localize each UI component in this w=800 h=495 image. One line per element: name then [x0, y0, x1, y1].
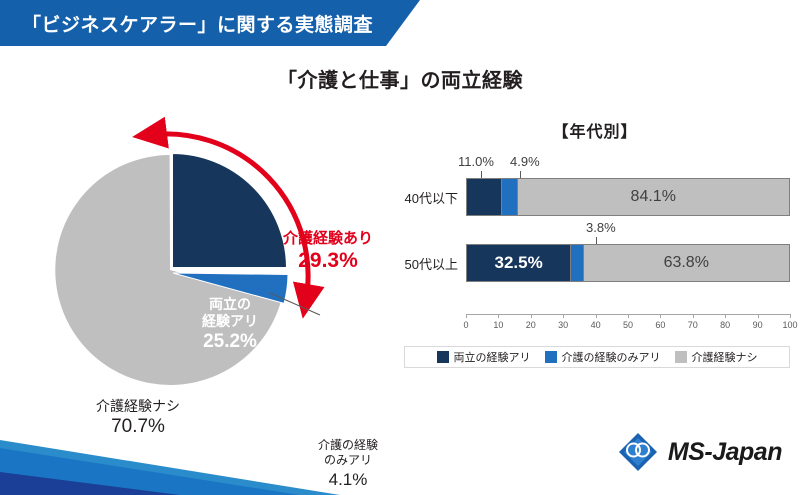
legend-item-no-care: 介護経験ナシ: [675, 349, 758, 365]
bar-row-track: 11.0% 4.9% 84.1%: [466, 178, 790, 216]
axis-tick: [790, 314, 791, 318]
bar-row: 40代以下 11.0% 4.9% 84.1%: [400, 178, 790, 216]
bar-row-category: 40代以下: [400, 178, 458, 216]
pie-annotation-text: 介護経験あり: [283, 230, 373, 247]
bar-chart-heading: 【年代別】: [400, 118, 790, 142]
bar-chart-legend: 両立の経験アリ 介護の経験のみアリ 介護経験ナシ: [404, 346, 790, 368]
bar-row: 50代以上 32.5% 3.8% 63.8%: [400, 244, 790, 282]
legend-label: 介護の経験のみアリ: [562, 349, 661, 365]
axis-tick: [466, 314, 467, 318]
bar-chart-plot: 11.0% 4.9% 3.8% 40代以下 11.0% 4.9% 84.1% 5…: [400, 154, 790, 354]
axis-label: 20: [526, 320, 536, 330]
bar-segment-no-care: 84.1%: [518, 178, 790, 216]
axis-label: 70: [688, 320, 698, 330]
axis-label: 10: [493, 320, 503, 330]
bar-row-track: 32.5% 3.8% 63.8%: [466, 244, 790, 282]
axis-tick: [628, 314, 629, 318]
legend-swatch-icon: [545, 351, 557, 363]
axis-tick: [531, 314, 532, 318]
bar-segment-both: 32.5%: [466, 244, 571, 282]
bar-chart-axis: 0 10 20 30 40 50 60 70 80 90 100: [466, 314, 790, 336]
pie-value-both: 25.2%: [170, 331, 290, 353]
brand-logo: MS-Japan: [617, 431, 782, 473]
axis-tick: [758, 314, 759, 318]
callout-row1-navy: 11.0%: [458, 154, 494, 169]
axis-label: 90: [753, 320, 763, 330]
bar-segment-care-only: 3.8%: [571, 244, 583, 282]
header-banner: 「ビジネスケアラー」に関する実態調査: [0, 0, 420, 46]
axis-tick: [498, 314, 499, 318]
bar-segment-care-only: 4.9%: [502, 178, 518, 216]
axis-tick: [725, 314, 726, 318]
axis-tick: [563, 314, 564, 318]
legend-label: 両立の経験アリ: [454, 349, 531, 365]
legend-item-care-only: 介護の経験のみアリ: [545, 349, 661, 365]
axis-tick: [660, 314, 661, 318]
axis-label: 100: [782, 320, 797, 330]
axis-label: 0: [463, 320, 468, 330]
legend-item-both: 両立の経験アリ: [437, 349, 531, 365]
axis-label: 50: [623, 320, 633, 330]
axis-label: 30: [558, 320, 568, 330]
legend-label: 介護経験ナシ: [692, 349, 758, 365]
legend-swatch-icon: [437, 351, 449, 363]
axis-label: 40: [591, 320, 601, 330]
bar-segment-no-care-value: 84.1%: [631, 188, 676, 206]
bar-segment-no-care-value: 63.8%: [664, 254, 709, 272]
bar-chart: 【年代別】 11.0% 4.9% 3.8% 40代以下 11.0% 4.9% 8…: [400, 118, 790, 383]
brand-logo-text: MS-Japan: [668, 438, 782, 467]
axis-tick: [693, 314, 694, 318]
footer-decoration: [0, 400, 340, 495]
legend-swatch-icon: [675, 351, 687, 363]
callout-row2-blue: 3.8%: [586, 220, 616, 235]
pie-chart: 両立の 経験アリ 25.2% 介護の経験 のみアリ 4.1% 介護経験ナシ 70…: [20, 110, 390, 400]
axis-label: 60: [655, 320, 665, 330]
header-title: 「ビジネスケアラー」に関する実態調査: [22, 10, 373, 37]
pie-annotation-value: 29.3%: [248, 249, 408, 274]
pie-label-both: 両立の 経験アリ 25.2%: [170, 296, 290, 353]
axis-label: 80: [720, 320, 730, 330]
pie-annotation-label: 介護経験あり 29.3%: [248, 230, 408, 273]
axis-tick: [596, 314, 597, 318]
bar-segment-both-value: 32.5%: [495, 253, 543, 273]
callout-row1-blue: 4.9%: [510, 154, 540, 169]
bar-row-category: 50代以上: [400, 244, 458, 282]
page-title: 「介護と仕事」の両立経験: [0, 64, 800, 93]
ms-japan-mark-icon: [617, 431, 659, 473]
bar-segment-no-care: 63.8%: [584, 244, 791, 282]
pie-label-both-line1: 両立の: [209, 296, 251, 312]
pie-label-both-line2: 経験アリ: [202, 313, 258, 329]
